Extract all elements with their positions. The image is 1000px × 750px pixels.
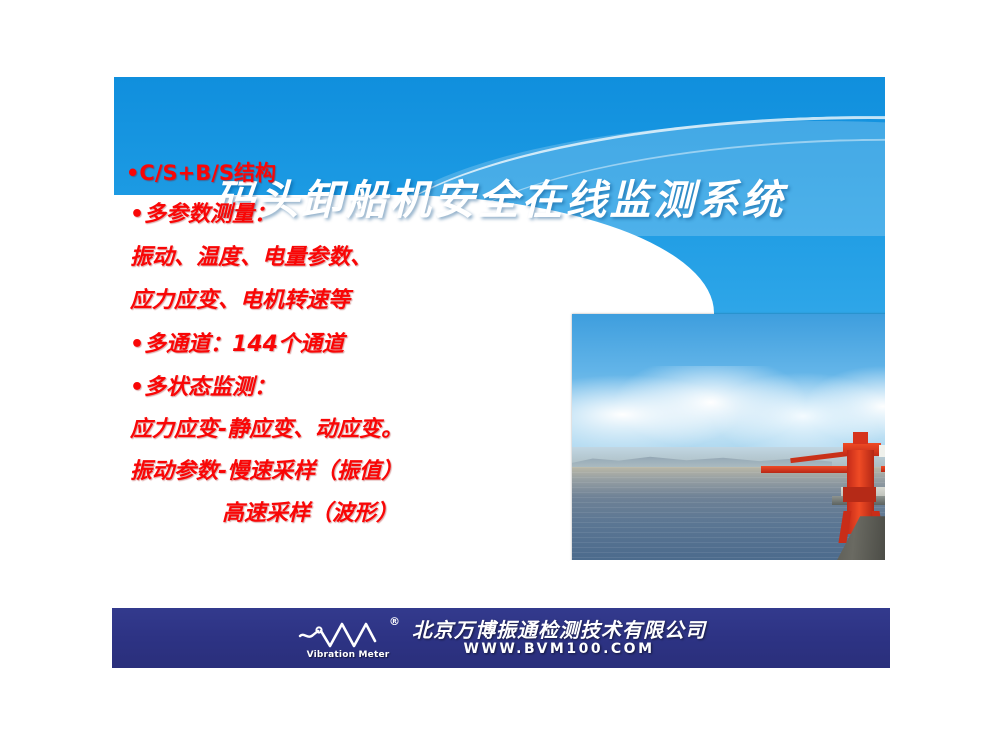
company-website: WWW.BVM100.COM xyxy=(463,641,654,658)
bullet-item-2: •多参数测量： xyxy=(130,204,276,226)
registered-trademark-icon: ® xyxy=(389,616,400,627)
photo-crane-boom-right xyxy=(881,466,885,472)
bullet-item-5: •多通道：144个通道 xyxy=(130,334,344,356)
bullet-item-1: •C/S+B/S结构 xyxy=(126,163,276,184)
bullet-item-7: 应力应变-静应变、动应变。 xyxy=(130,419,403,441)
logo-caption: Vibration Meter xyxy=(307,650,390,660)
vibration-meter-wave-icon: ® xyxy=(298,619,398,649)
slide-panel: 码头卸船机安全在线监测系统 xyxy=(114,77,885,560)
ship-unloader-photo xyxy=(572,314,885,560)
bullet-item-4: 应力应变、电机转速等 xyxy=(130,290,350,312)
footer-bar: ® Vibration Meter 北京万博振通检测技术有限公司 WWW.BVM… xyxy=(112,608,890,668)
bullet-item-8: 振动参数-慢速采样（振值） xyxy=(130,461,403,483)
footer-content: ® Vibration Meter 北京万博振通检测技术有限公司 WWW.BVM… xyxy=(112,608,890,668)
photo-crane-boom-left xyxy=(761,466,856,474)
photo-crane-sign xyxy=(879,445,885,457)
company-logo: ® Vibration Meter xyxy=(296,616,400,660)
bullet-item-6: •多状态监测： xyxy=(130,377,276,399)
footer-text-block: 北京万博振通检测技术有限公司 WWW.BVM100.COM xyxy=(412,619,706,658)
photo-crane-head xyxy=(853,432,868,444)
photo-crane-hopper xyxy=(843,487,877,501)
photo-sea-texture xyxy=(572,467,885,560)
slide-canvas: 码头卸船机安全在线监测系统 xyxy=(0,0,1000,750)
company-name: 北京万博振通检测技术有限公司 xyxy=(412,619,706,641)
photo-clouds xyxy=(572,366,885,447)
bullet-item-3: 振动、温度、电量参数、 xyxy=(130,247,372,269)
bullet-item-9: 高速采样（波形） xyxy=(222,503,398,525)
